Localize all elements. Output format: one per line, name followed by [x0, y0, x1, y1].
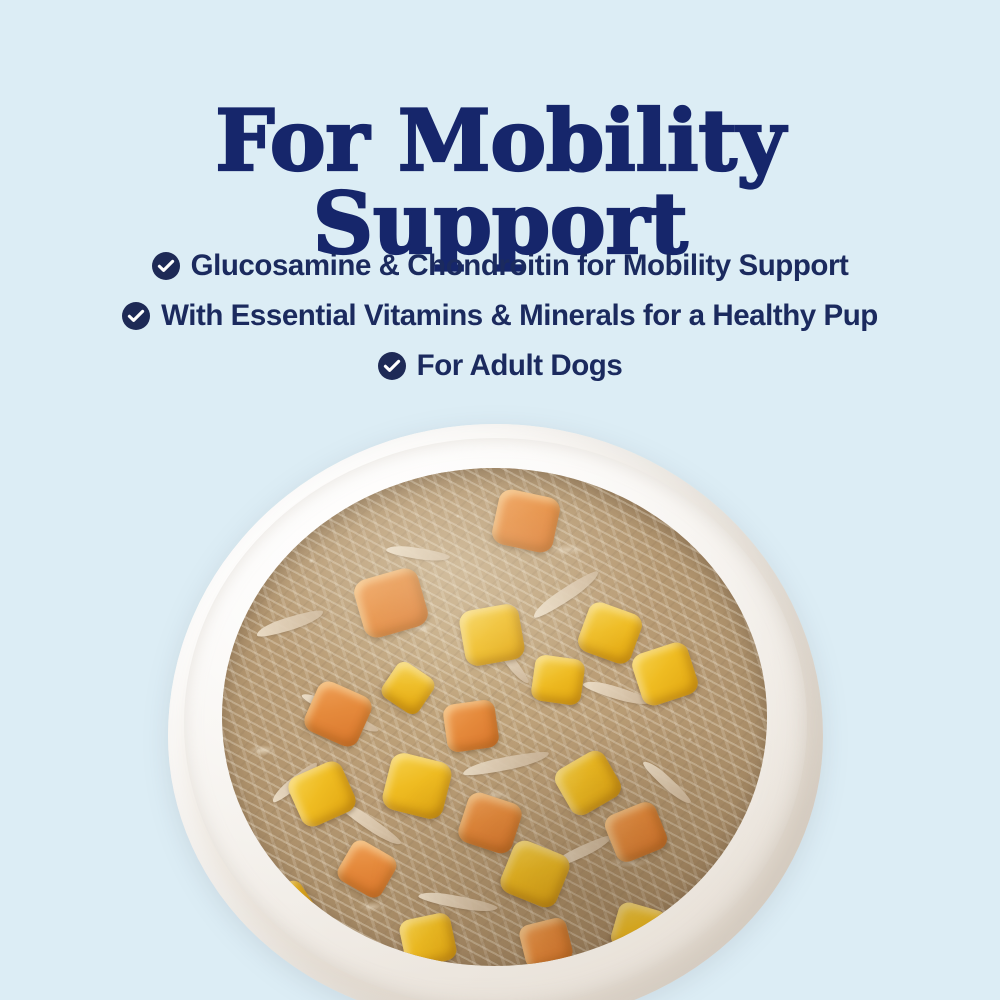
check-circle-icon: [152, 252, 180, 280]
squash-chunk: [457, 603, 526, 669]
food-surface: [222, 468, 767, 966]
squash-chunk: [397, 911, 458, 966]
squash-chunk: [530, 654, 586, 707]
list-item: Glucosamine & Chondroitin for Mobility S…: [0, 243, 1000, 289]
list-item: For Adult Dogs: [0, 343, 1000, 389]
benefit-label: Glucosamine & Chondroitin for Mobility S…: [191, 249, 849, 283]
page-title: For Mobility Support: [0, 100, 1000, 265]
check-circle-icon: [122, 302, 150, 330]
carrot-chunk: [442, 699, 500, 754]
dog-food-bowl-image: [168, 424, 823, 1000]
list-item: With Essential Vitamins & Minerals for a…: [0, 293, 1000, 339]
benefit-label: With Essential Vitamins & Minerals for a…: [161, 299, 878, 333]
check-circle-icon: [378, 352, 406, 380]
benefit-label: For Adult Dogs: [417, 349, 623, 383]
headline-line-1: For Mobility: [0, 100, 1000, 182]
benefits-list: Glucosamine & Chondroitin for Mobility S…: [0, 243, 1000, 393]
product-benefits-page: For Mobility Support Glucosamine & Chond…: [0, 0, 1000, 1000]
